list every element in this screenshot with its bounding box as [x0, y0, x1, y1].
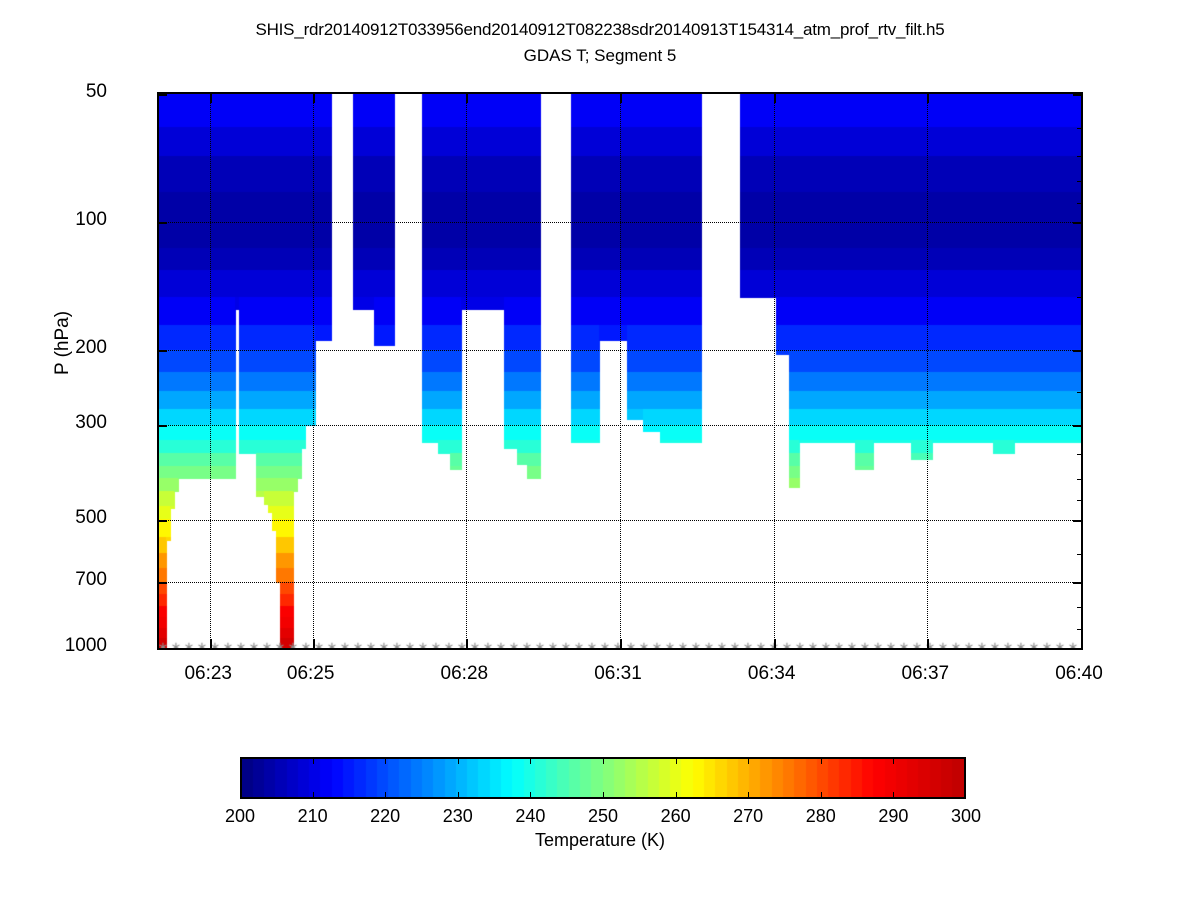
y-axis-minor-tick	[1077, 203, 1081, 204]
y-axis-tick-label: 700	[0, 569, 107, 591]
colorbar-tick	[676, 757, 677, 764]
y-axis-tick	[1073, 582, 1081, 584]
x-axis-tick	[1081, 94, 1083, 103]
colorbar-tick-label: 290	[853, 806, 933, 827]
colorbar-tick	[458, 757, 459, 764]
colorbar-tick-label: 230	[418, 806, 498, 827]
y-axis-tick	[159, 520, 167, 522]
y-axis-tick	[159, 425, 167, 427]
x-axis-tick	[210, 94, 212, 103]
x-axis-tick-label: 06:25	[251, 663, 371, 685]
temperature-cross-section-heatmap	[159, 94, 1081, 648]
y-axis-minor-tick	[1077, 500, 1081, 501]
colorbar-tick	[893, 792, 894, 799]
y-axis-tick	[159, 648, 167, 650]
colorbar-tick-label: 220	[345, 806, 425, 827]
y-axis-tick	[1073, 94, 1081, 96]
y-axis-tick	[1073, 350, 1081, 352]
colorbar-tick	[603, 757, 604, 764]
colorbar-tick	[821, 792, 822, 799]
y-axis-minor-tick	[1077, 454, 1081, 455]
y-axis-tick	[1073, 425, 1081, 427]
y-axis-minor-tick	[1077, 629, 1081, 630]
y-axis-minor-tick	[1077, 479, 1081, 480]
colorbar-tick	[821, 757, 822, 764]
chart-subtitle: GDAS T; Segment 5	[0, 46, 1200, 66]
y-axis-tick-label: 1000	[0, 635, 107, 657]
y-axis-tick	[159, 222, 167, 224]
y-axis-tick	[1073, 520, 1081, 522]
colorbar-tick-label: 260	[636, 806, 716, 827]
x-axis-tick	[620, 639, 622, 648]
x-axis-tick	[774, 94, 776, 103]
colorbar-tick	[530, 757, 531, 764]
colorbar-tick	[748, 792, 749, 799]
x-axis-tick	[927, 94, 929, 103]
x-axis-tick-label: 06:34	[712, 663, 832, 685]
y-axis-minor-tick	[1077, 297, 1081, 298]
chart-title-block: SHIS_rdr20140912T033956end20140912T08223…	[0, 20, 1200, 66]
colorbar-tick-label: 200	[200, 806, 280, 827]
x-axis-tick	[466, 94, 468, 103]
colorbar-tick-label: 280	[781, 806, 861, 827]
x-axis-tick	[774, 639, 776, 648]
y-axis-tick-label: 50	[0, 81, 107, 103]
colorbar-tick-label: 240	[490, 806, 570, 827]
x-axis-tick	[927, 639, 929, 648]
colorbar-tick	[313, 792, 314, 799]
plot-area	[157, 92, 1083, 650]
y-axis-minor-tick	[1077, 607, 1081, 608]
y-axis-minor-tick	[1077, 392, 1081, 393]
colorbar	[240, 757, 966, 799]
y-axis-tick-label: 300	[0, 412, 107, 434]
x-axis-tick	[1081, 639, 1083, 648]
colorbar-tick-label: 210	[273, 806, 353, 827]
colorbar-tick	[458, 792, 459, 799]
y-axis-minor-tick	[1077, 554, 1081, 555]
y-axis-minor-tick	[1077, 156, 1081, 157]
colorbar-tick	[385, 792, 386, 799]
x-axis-tick	[466, 639, 468, 648]
colorbar-tick	[603, 792, 604, 799]
colorbar-tick	[676, 792, 677, 799]
y-axis-tick	[159, 582, 167, 584]
x-axis-tick-label: 06:40	[1019, 663, 1139, 685]
page-title: SHIS_rdr20140912T033956end20140912T08223…	[0, 20, 1200, 40]
colorbar-tick	[385, 757, 386, 764]
colorbar-tick	[893, 757, 894, 764]
colorbar-tick	[530, 792, 531, 799]
y-axis-tick	[159, 350, 167, 352]
colorbar-title: Temperature (K)	[0, 830, 1200, 851]
x-axis-tick	[210, 639, 212, 648]
y-axis-tick-label: 500	[0, 507, 107, 529]
x-axis-tick	[313, 639, 315, 648]
colorbar-tick-label: 270	[708, 806, 788, 827]
colorbar-tick	[313, 757, 314, 764]
colorbar-tick-label: 250	[563, 806, 643, 827]
y-axis-minor-tick	[1077, 128, 1081, 129]
x-axis-tick-label: 06:28	[404, 663, 524, 685]
colorbar-tick	[748, 757, 749, 764]
colorbar-tick-label: 300	[926, 806, 1006, 827]
x-axis-tick-label: 06:31	[558, 663, 678, 685]
y-axis-tick-label: 100	[0, 209, 107, 231]
y-axis-tick-label: 200	[0, 337, 107, 359]
y-axis-minor-tick	[1077, 181, 1081, 182]
x-axis-tick-label: 06:37	[865, 663, 985, 685]
y-axis-tick	[159, 94, 167, 96]
y-axis-tick	[1073, 648, 1081, 650]
y-axis-tick	[1073, 222, 1081, 224]
x-axis-tick	[620, 94, 622, 103]
x-axis-tick	[313, 94, 315, 103]
